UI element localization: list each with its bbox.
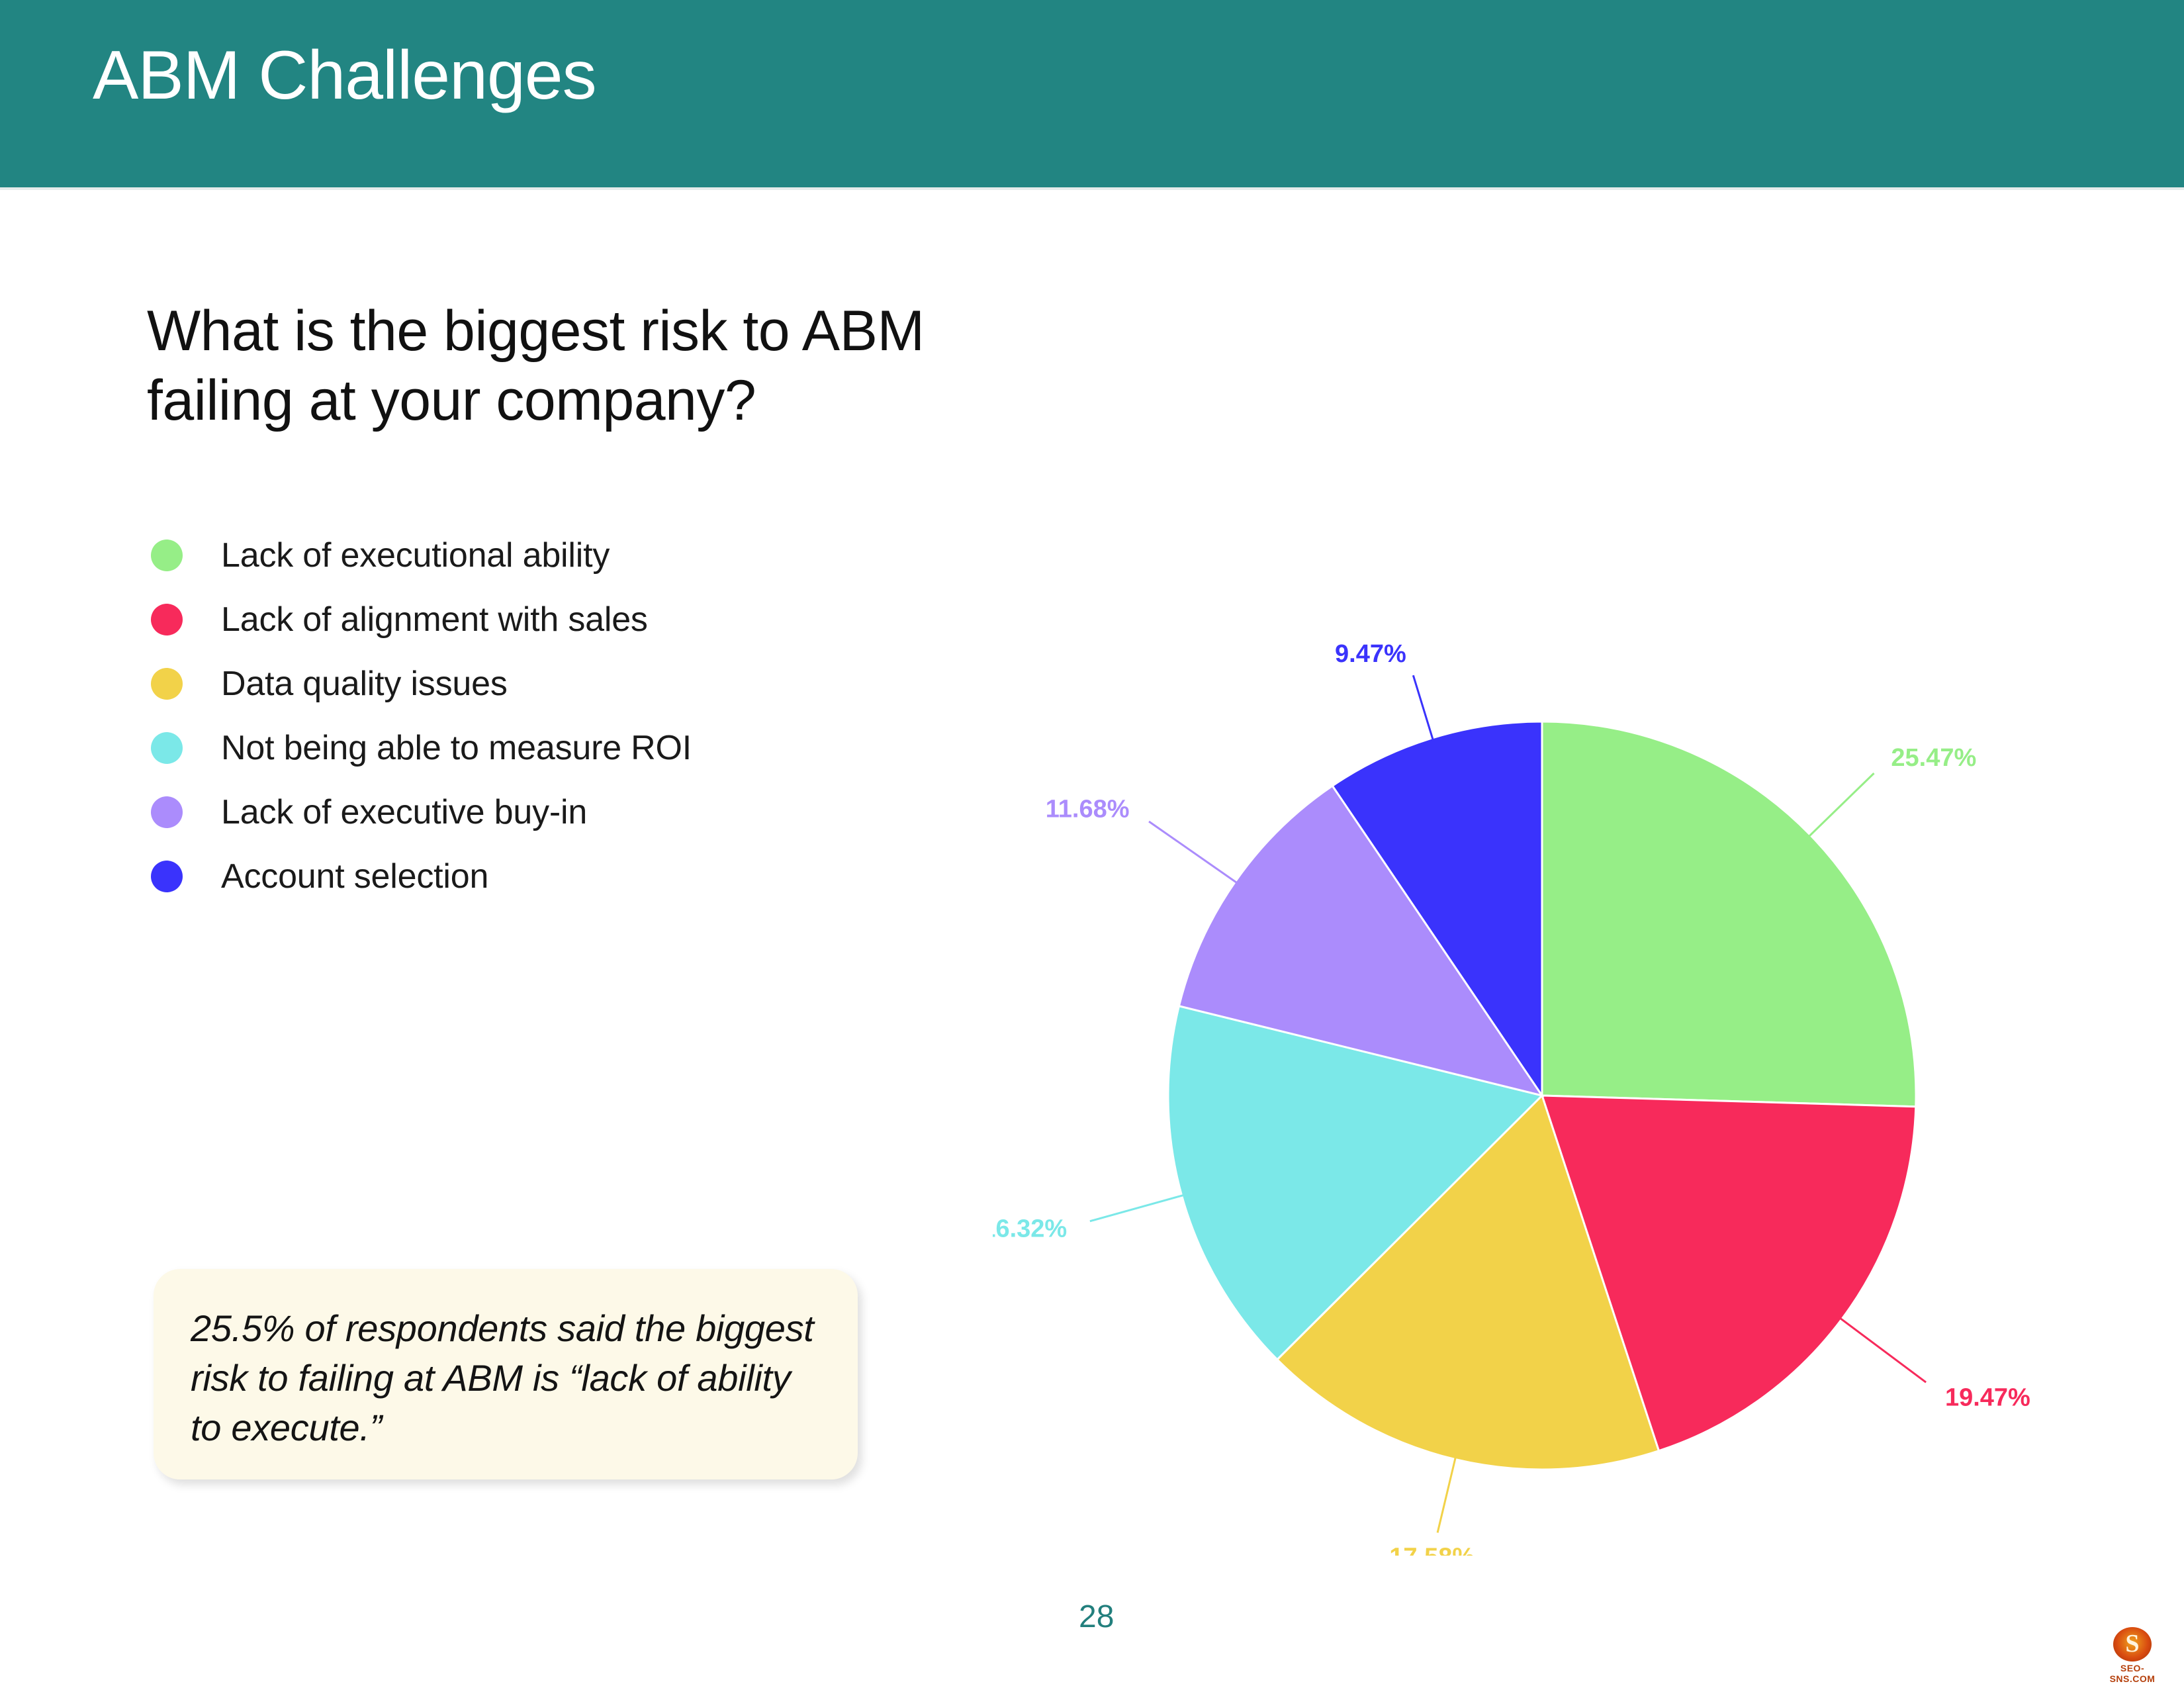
pie-leader-line: [1413, 675, 1433, 741]
legend-item-data-quality-issues[interactable]: Data quality issues: [151, 651, 978, 716]
pie-value-label: 11.68%: [1046, 795, 1130, 823]
chart-legend: Lack of executional ability Lack of alig…: [151, 523, 978, 908]
pie-leader-line: [1437, 1456, 1456, 1533]
pie-leader-line: [1090, 1195, 1186, 1221]
pie-leader-line: [1839, 1317, 1926, 1382]
pie-chart-svg: 25.47%19.47%17.58%16.32%11.68%9.47%: [993, 616, 2151, 1556]
legend-swatch-icon: [151, 604, 183, 635]
legend-item-label: Account selection: [221, 857, 488, 896]
legend-item-label: Lack of alignment with sales: [221, 600, 648, 639]
pie-value-label: 19.47%: [1945, 1384, 2030, 1412]
callout-box: 25.5% of respondents said the biggest ri…: [154, 1269, 858, 1479]
pie-value-label: 16.32%: [993, 1215, 1067, 1243]
watermark-label: SEO-SNS.COM: [2102, 1663, 2163, 1684]
pie-slices: [1168, 722, 1916, 1470]
legend-item-account-selection[interactable]: Account selection: [151, 844, 978, 908]
legend-item-label: Lack of executional ability: [221, 536, 610, 575]
legend-item-alignment-with-sales[interactable]: Lack of alignment with sales: [151, 587, 978, 651]
pie-leader-line: [1807, 773, 1874, 838]
callout-text: 25.5% of respondents said the biggest ri…: [191, 1303, 821, 1452]
pie-value-label: 9.47%: [1335, 640, 1406, 668]
page-number: 28: [1079, 1599, 1114, 1635]
page-title: ABM Challenges: [93, 36, 596, 116]
legend-item-label: Data quality issues: [221, 664, 508, 704]
pie-value-label: 25.47%: [1891, 744, 1976, 772]
seo-sns-logo-icon: [2113, 1627, 2152, 1662]
pie-slice[interactable]: [1542, 722, 1916, 1107]
legend-swatch-icon: [151, 861, 183, 892]
legend-swatch-icon: [151, 796, 183, 828]
question-heading: What is the biggest risk to ABM failing …: [147, 297, 1073, 436]
header-divider: [0, 187, 2184, 190]
watermark-logo: SEO-SNS.COM: [2102, 1627, 2163, 1679]
legend-swatch-icon: [151, 668, 183, 700]
legend-swatch-icon: [151, 732, 183, 764]
pie-value-label: 17.58%: [1389, 1543, 1475, 1556]
legend-item-label: Lack of executive buy-in: [221, 792, 587, 832]
legend-item-measure-roi[interactable]: Not being able to measure ROI: [151, 716, 978, 780]
pie-chart: 25.47%19.47%17.58%16.32%11.68%9.47%: [993, 616, 2151, 1556]
legend-item-executive-buy-in[interactable]: Lack of executive buy-in: [151, 780, 978, 844]
legend-swatch-icon: [151, 539, 183, 571]
legend-item-label: Not being able to measure ROI: [221, 728, 692, 768]
pie-leader-line: [1149, 821, 1238, 884]
legend-item-executional-ability[interactable]: Lack of executional ability: [151, 523, 978, 587]
